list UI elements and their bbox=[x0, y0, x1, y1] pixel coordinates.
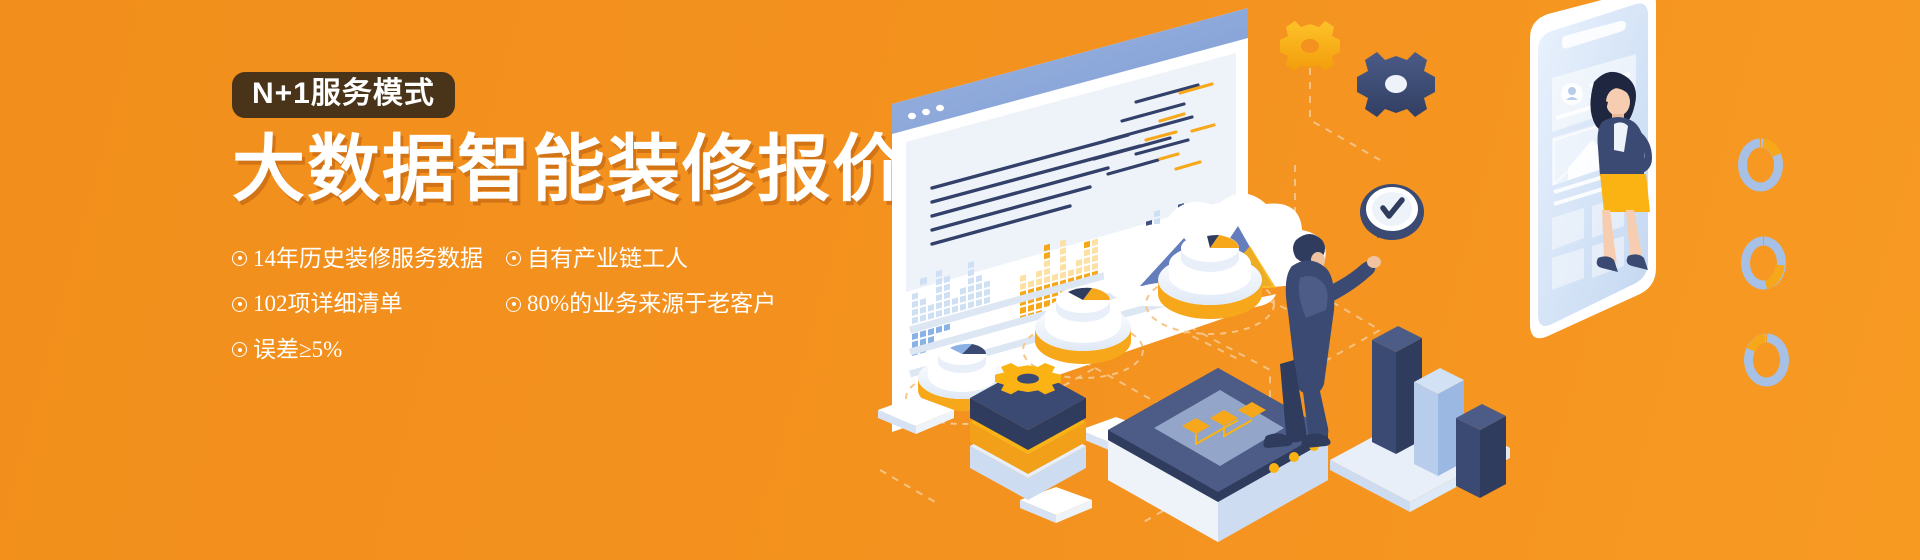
list-item: 误差≥5% bbox=[232, 336, 490, 364]
promo-banner: N+1服务模式 大数据智能装修报价 14年历史装修服务数据 自有产业链工人 10… bbox=[0, 0, 1920, 560]
list-item: 102项详细清单 bbox=[232, 290, 490, 318]
circled-dot-icon bbox=[506, 251, 521, 266]
service-mode-badge: N+1服务模式 bbox=[232, 72, 455, 118]
gear-navy-icon bbox=[1357, 52, 1435, 117]
list-item: 自有产业链工人 bbox=[506, 245, 792, 273]
list-item-label: 80%的业务来源于老客户 bbox=[527, 290, 776, 318]
donut-ring-icons bbox=[1743, 143, 1785, 382]
page-title: 大数据智能装修报价 bbox=[232, 132, 892, 209]
list-item: 14年历史装修服务数据 bbox=[232, 245, 490, 273]
circled-dot-icon bbox=[232, 342, 247, 357]
list-item-label: 102项详细清单 bbox=[253, 290, 403, 318]
bar-chart-columns bbox=[1330, 326, 1510, 512]
list-item-label: 14年历史装修服务数据 bbox=[253, 245, 483, 273]
text-block: N+1服务模式 大数据智能装修报价 14年历史装修服务数据 自有产业链工人 10… bbox=[232, 72, 892, 363]
circled-dot-icon bbox=[506, 297, 521, 312]
isometric-big-data-illustration bbox=[840, 0, 1920, 560]
list-item: 80%的业务来源于老客户 bbox=[506, 290, 792, 318]
feature-bullet-list: 14年历史装修服务数据 自有产业链工人 102项详细清单 80%的业务来源于老客… bbox=[232, 245, 792, 364]
list-item-label: 自有产业链工人 bbox=[527, 245, 688, 273]
check-badge-icon bbox=[1360, 184, 1424, 240]
circled-dot-icon bbox=[232, 251, 247, 266]
circled-dot-icon bbox=[232, 297, 247, 312]
list-item-label: 误差≥5% bbox=[253, 336, 342, 364]
gear-yellow-icon bbox=[1280, 21, 1340, 71]
